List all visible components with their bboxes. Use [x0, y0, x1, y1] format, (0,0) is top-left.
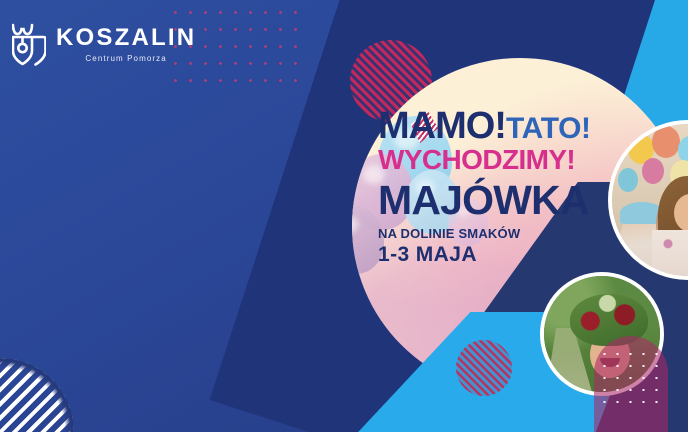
balloon-icon — [642, 158, 664, 184]
striped-circle-bottom — [456, 340, 512, 396]
koszalin-shield-icon — [12, 22, 46, 66]
koszalin-logo[interactable]: KOSZALIN Centrum Pomorza — [12, 22, 196, 66]
headline-tato: TATO! — [506, 112, 591, 145]
logo-tagline: Centrum Pomorza — [85, 54, 166, 63]
headline-majowka: MAJÓWKA — [378, 179, 638, 222]
floral-dress — [652, 230, 688, 276]
headline-block: MAMO!TATO! WYCHODZIMY! MAJÓWKA NA DOLINI… — [378, 108, 638, 267]
headline-line-1: MAMO!TATO! — [378, 108, 638, 144]
logo-text-block: KOSZALIN Centrum Pomorza — [56, 26, 196, 63]
majowka-promo-banner: KOSZALIN Centrum Pomorza MAMO!TATO! WYCH… — [0, 0, 688, 432]
headline-location: NA DOLINIE SMAKÓW — [378, 226, 638, 241]
headline-mamo: MAMO! — [378, 105, 506, 147]
logo-name: KOSZALIN — [56, 26, 196, 50]
headline-dates: 1-3 MAJA — [378, 243, 638, 267]
balloon-icon — [652, 126, 680, 158]
dot-grid-bottom-right — [598, 348, 662, 410]
headline-wychodzimy: WYCHODZIMY! — [378, 145, 638, 174]
